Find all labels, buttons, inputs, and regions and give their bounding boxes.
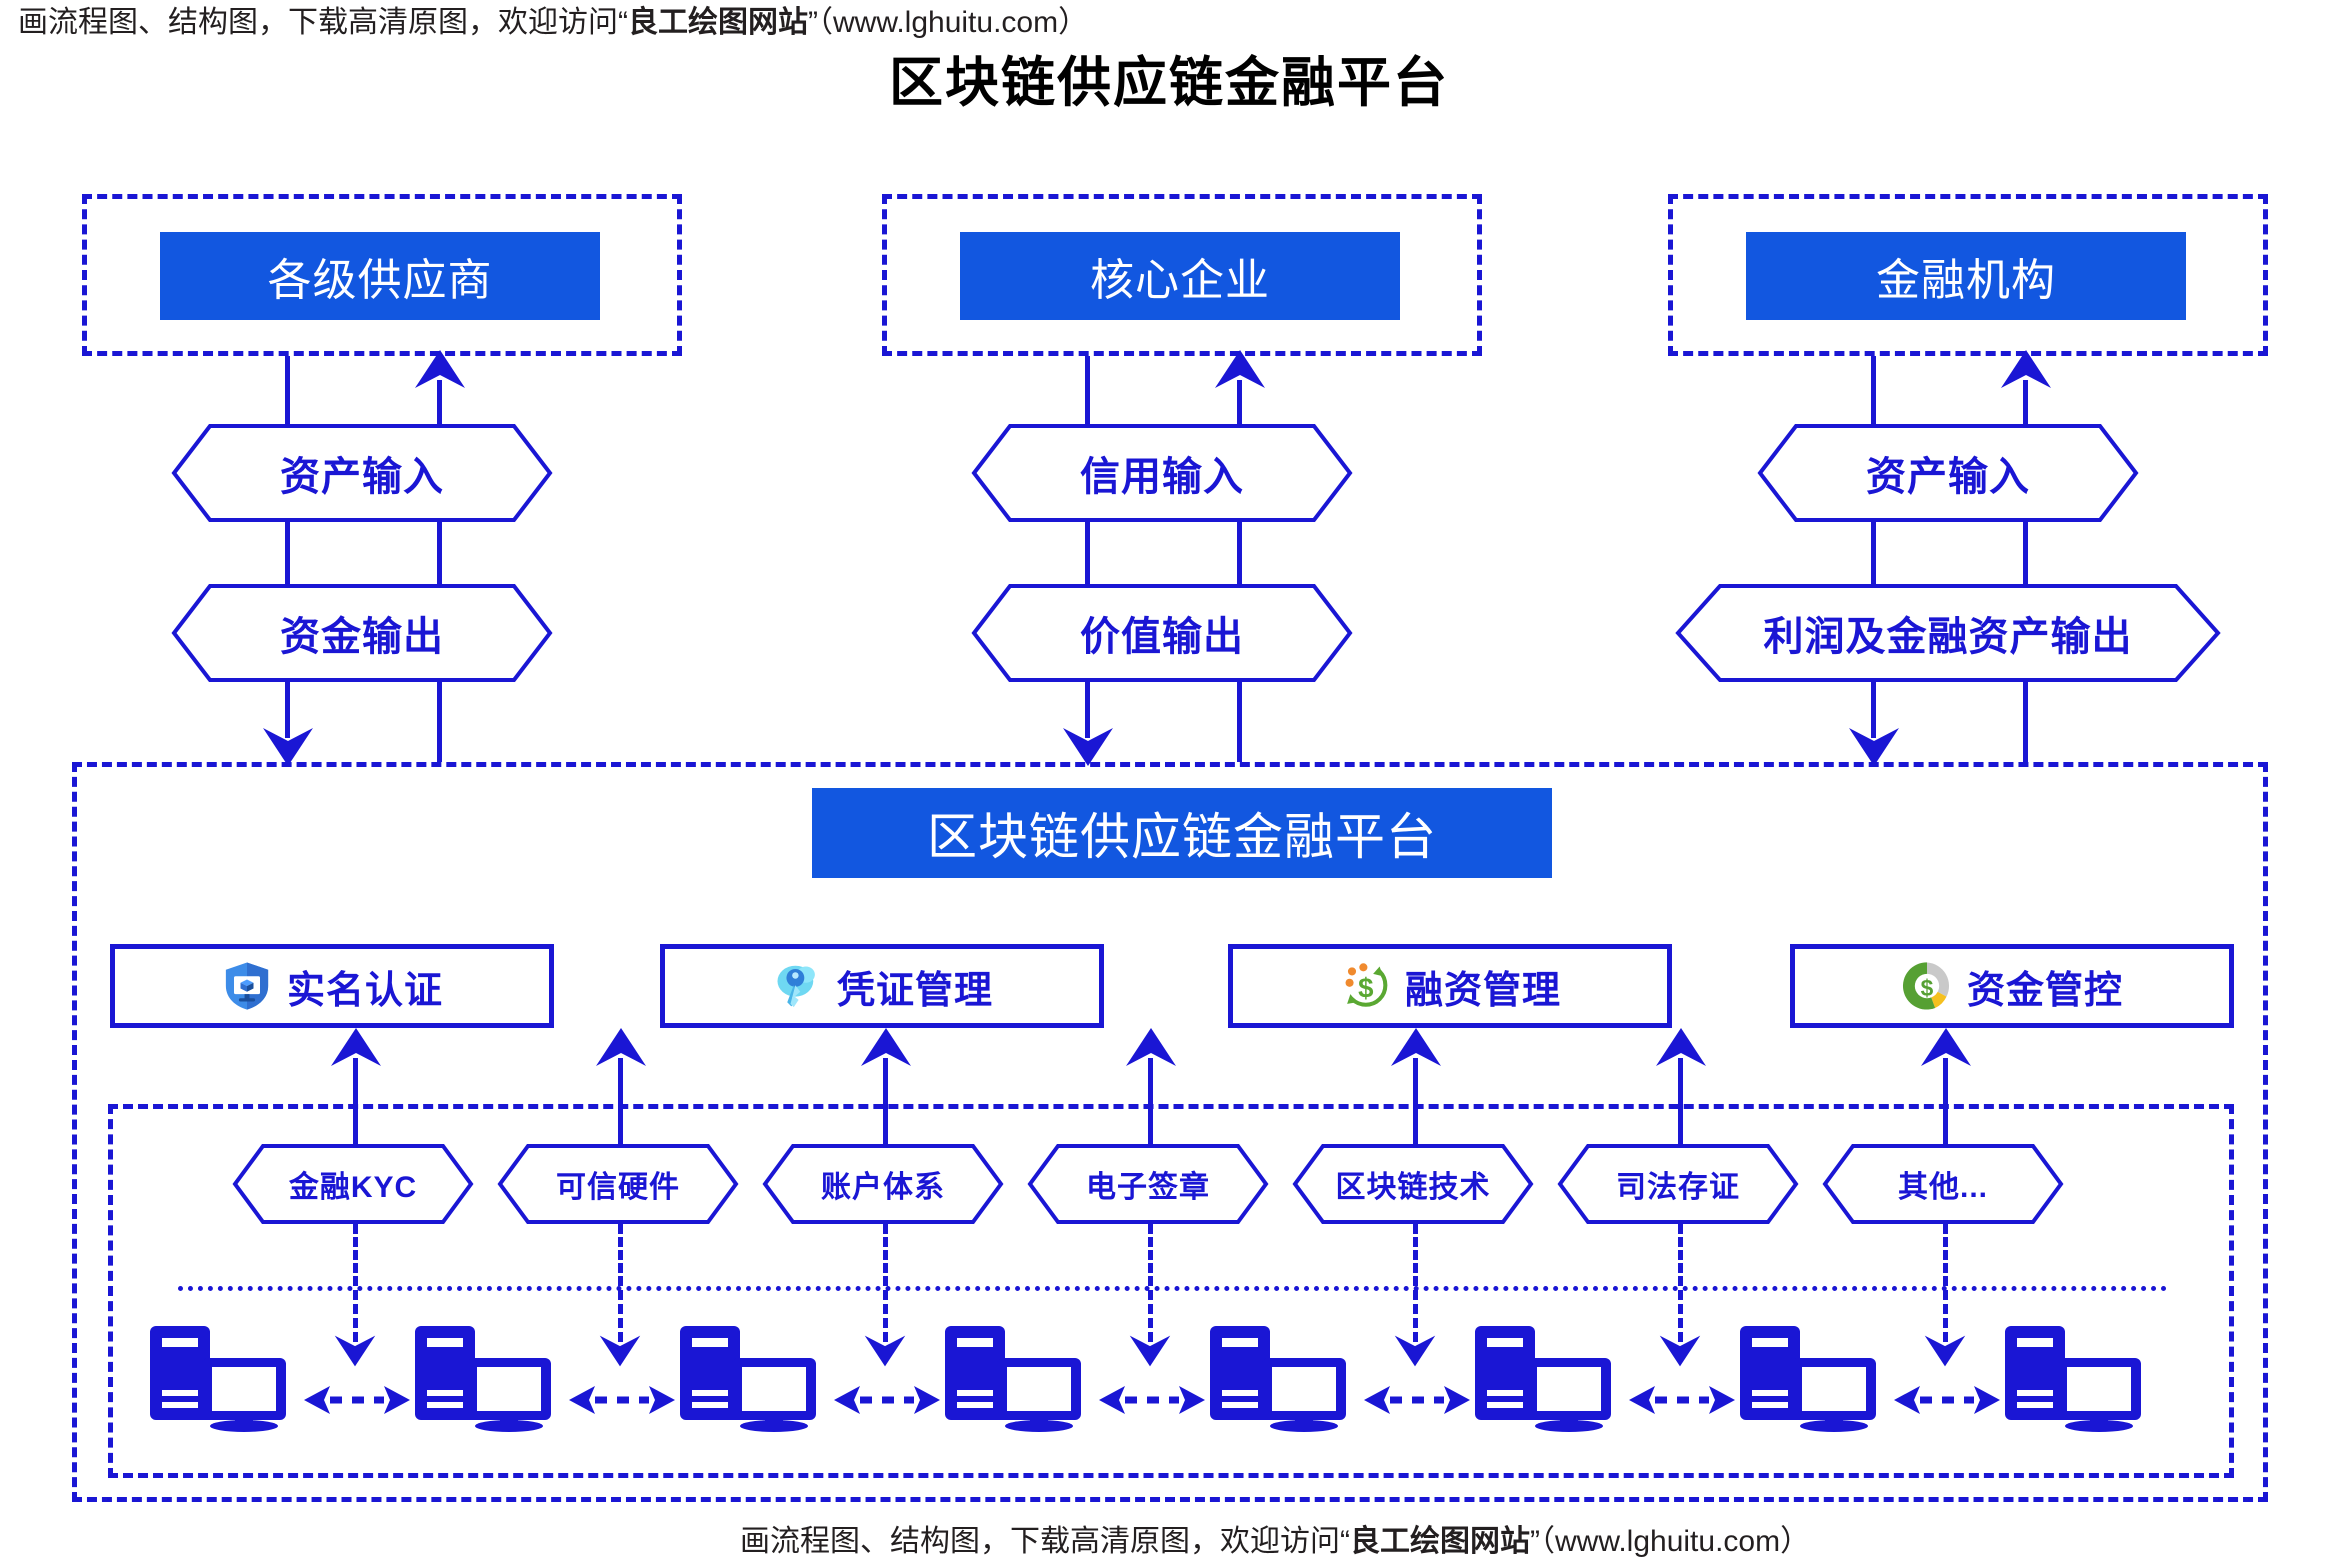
capability-hex-电子签章[interactable]: 电子签章 [1028,1144,1268,1224]
connector-cap-5-down [1413,1224,1418,1286]
connector-cap-4-up [1148,1058,1153,1144]
connector-core-up-2 [1237,680,1242,762]
node-7-computer-icon[interactable] [1740,1322,1890,1432]
credit-bottom-part1: 画流程图、结构图，下载高清原图，欢迎访问“ [740,1525,1350,1558]
connector-cap-4-down [1148,1224,1153,1286]
feature-box-资金管控[interactable]: $ 资金管控 [1790,944,2234,1028]
arrowhead-up-cap-7 [1919,1026,1973,1068]
arrowhead-down-node-7 [1923,1334,1967,1368]
connector-suppliers-mid-right [437,520,442,584]
flow-hex-core-output[interactable]: 价值输出 [972,584,1352,682]
arrowhead-down-node-5 [1393,1334,1437,1368]
credit-bottom-part2: ”（www.lghuitu.com） [1530,1525,1810,1558]
flow-hex-core-input[interactable]: 信用输入 [972,424,1352,522]
actor-box-financial-institution[interactable]: 金融机构 [1746,232,2186,320]
credit-top-brand: 良工绘图网站 [628,6,808,39]
arrowhead-up-cap-3 [859,1026,913,1068]
flow-hex-suppliers-output[interactable]: 资金输出 [172,584,552,682]
capability-hex-其他[interactable]: 其他... [1823,1144,2063,1224]
node-6-computer-icon[interactable] [1475,1322,1625,1432]
node-link-3-4 [834,1382,940,1418]
arrowhead-up-cap-5 [1389,1026,1443,1068]
connector-cap-6-down [1678,1224,1683,1286]
arrowhead-down-node-3 [863,1334,907,1368]
network-bus-line [178,1286,2168,1291]
node-5-computer-icon[interactable] [1210,1322,1360,1432]
dollar-recycle-icon: $ [1339,960,1391,1012]
connector-cap-6-up [1678,1058,1683,1144]
shield-monitor-icon [221,960,273,1012]
connector-cap-3-down [883,1224,888,1286]
platform-title-box[interactable]: 区块链供应链金融平台 [812,788,1552,878]
credit-line-bottom: 画流程图、结构图，下载高清原图，欢迎访问“良工绘图网站”（www.lghuitu… [740,1516,1810,1560]
arrowhead-up-suppliers-1 [413,348,467,390]
flow-hex-suppliers-input[interactable]: 资产输入 [172,424,552,522]
credit-top-part1: 画流程图、结构图，下载高清原图，欢迎访问“ [18,6,628,39]
capability-hex-金融KYC[interactable]: 金融KYC [233,1144,473,1224]
connector-cap-1-down [353,1224,358,1286]
node-8-computer-icon[interactable] [2005,1322,2155,1432]
connector-cap-5-up [1413,1058,1418,1144]
node-4-computer-icon[interactable] [945,1322,1095,1432]
node-link-5-6 [1364,1382,1470,1418]
connector-cap-7-up [1943,1058,1948,1144]
connector-core-down-1 [1085,356,1090,424]
node-link-4-5 [1099,1382,1205,1418]
connector-cap-3-up [883,1058,888,1144]
connector-cap-7-down [1943,1224,1948,1286]
feature-label: 资金管控 [1967,959,2123,1014]
feature-label: 实名认证 [287,959,443,1014]
node-1-computer-icon[interactable] [150,1322,300,1432]
flow-hex-fin-input[interactable]: 资产输入 [1758,424,2138,522]
node-3-computer-icon[interactable] [680,1322,830,1432]
arrowhead-up-cap-6 [1654,1026,1708,1068]
capability-hex-区块链技术[interactable]: 区块链技术 [1293,1144,1533,1224]
connector-core-mid-right [1237,520,1242,584]
key-cloud-icon [771,960,823,1012]
arrowhead-down-node-2 [598,1334,642,1368]
capability-hex-账户体系[interactable]: 账户体系 [763,1144,1003,1224]
credit-line-top: 画流程图、结构图，下载高清原图，欢迎访问“良工绘图网站”（www.lghuitu… [18,0,1088,41]
node-link-1-2 [304,1382,410,1418]
connector-fin-mid-right [2023,520,2028,584]
arrowhead-down-node-1 [333,1334,377,1368]
feature-box-凭证管理[interactable]: 凭证管理 [660,944,1104,1028]
node-link-7-8 [1894,1382,2000,1418]
connector-suppliers-down-1 [285,356,290,424]
capability-hex-司法存证[interactable]: 司法存证 [1558,1144,1798,1224]
arrowhead-up-cap-1 [329,1026,383,1068]
arrowhead-up-core-1 [1213,348,1267,390]
actor-box-suppliers[interactable]: 各级供应商 [160,232,600,320]
arrowhead-down-node-4 [1128,1334,1172,1368]
connector-cap-2-up [618,1058,623,1144]
node-link-6-7 [1629,1382,1735,1418]
feature-box-融资管理[interactable]: $ 融资管理 [1228,944,1672,1028]
connector-cap-1-up [353,1058,358,1144]
svg-text:$: $ [1358,972,1373,1003]
actor-box-core-enterprise[interactable]: 核心企业 [960,232,1400,320]
connector-cap-2-down [618,1224,623,1286]
flow-hex-fin-output[interactable]: 利润及金融资产输出 [1676,584,2220,682]
arrowhead-up-cap-2 [594,1026,648,1068]
credit-bottom-brand: 良工绘图网站 [1350,1525,1530,1558]
svg-text:$: $ [1921,975,1934,1001]
node-link-2-3 [569,1382,675,1418]
connector-suppliers-mid-left [285,520,290,584]
dollar-donut-icon: $ [1901,960,1953,1012]
arrowhead-down-node-6 [1658,1334,1702,1368]
connector-suppliers-up-2 [437,680,442,762]
connector-core-mid-left [1085,520,1090,584]
page-title: 区块链供应链金融平台 [0,38,2338,117]
node-2-computer-icon[interactable] [415,1322,565,1432]
connector-fin-mid-left [1871,520,1876,584]
credit-top-part2: ”（www.lghuitu.com） [808,6,1088,39]
feature-label: 凭证管理 [837,959,993,1014]
feature-box-实名认证[interactable]: 实名认证 [110,944,554,1028]
feature-label: 融资管理 [1405,959,1561,1014]
connector-fin-down-1 [1871,356,1876,424]
connector-fin-up-2 [2023,680,2028,762]
arrowhead-up-fin-1 [1999,348,2053,390]
capability-hex-可信硬件[interactable]: 可信硬件 [498,1144,738,1224]
arrowhead-up-cap-4 [1124,1026,1178,1068]
